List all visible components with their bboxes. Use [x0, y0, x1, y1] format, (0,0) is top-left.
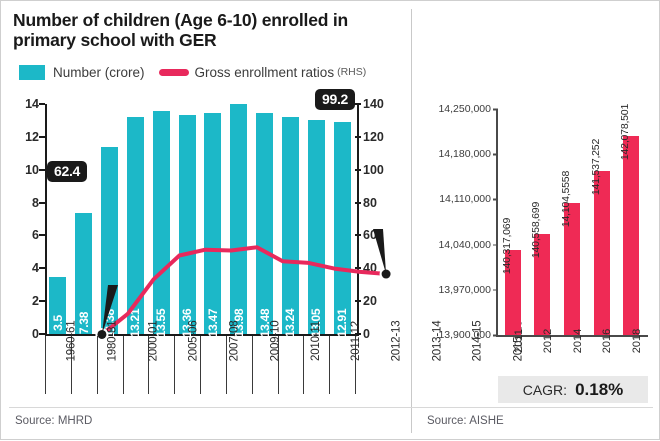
legend-bar-swatch: [19, 65, 45, 80]
legend-line-label: Gross enrollment ratios: [195, 65, 335, 80]
left-x-axis-labels: 1960-611980-812000-012005-062007-082009-…: [45, 338, 355, 400]
right-bar-value-label: 142,078,501: [619, 104, 631, 160]
right-bar-cell: 14,104,5558: [557, 109, 587, 335]
right-x-tick-label: 2016: [602, 329, 614, 353]
right-bar-series: 140,317,069140,558,69914,104,5558141,537…: [498, 109, 646, 335]
right-y-tick-label: 14,180,000: [438, 148, 491, 160]
left-x-label-cell: 2012-13: [370, 338, 411, 400]
left-chart-legend: Number (crore) Gross enrollment ratios (…: [19, 63, 366, 81]
left-y-tick-label: 8: [32, 196, 39, 210]
left-y2-tick-label: 140: [363, 97, 384, 111]
ger-point-last[interactable]: [382, 270, 391, 279]
right-bar-value-label: 140,317,069: [501, 218, 513, 274]
right-y-tick-label: 14,040,000: [438, 239, 491, 251]
right-y-tick-label: 13,970,000: [438, 284, 491, 296]
left-y-tick-label: 0: [32, 327, 39, 341]
callout-last-leader: [373, 229, 386, 274]
right-x-label-cell: 2011: [498, 339, 528, 353]
left-y2-tick-label: 100: [363, 163, 384, 177]
right-source-note: Source: AISHE: [427, 415, 504, 427]
right-bar[interactable]: 142,078,501: [623, 136, 639, 335]
left-y-tick-label: 2: [32, 294, 39, 308]
left-x-label-cell: 2010-11: [290, 338, 330, 400]
left-x-label-cell: 2000-01: [127, 338, 168, 400]
right-bar[interactable]: 141,537,252: [594, 171, 610, 335]
left-x-label-cell: 2007-08: [208, 338, 249, 400]
left-chart-panel: Number of children (Age 6-10) enrolled i…: [1, 1, 411, 441]
left-y2-tick-mark: [355, 202, 361, 204]
legend-bar-label: Number (crore): [53, 65, 145, 80]
right-bar-value-label: 141,537,252: [590, 139, 602, 195]
left-x-label-cell: 2009-10: [249, 338, 290, 400]
right-bar[interactable]: 140,317,069: [505, 250, 521, 335]
callout-first-value: 62.4: [47, 161, 87, 182]
left-y-tick-label: 6: [32, 228, 39, 242]
cagr-value: 0.18%: [575, 380, 623, 400]
right-x-tick-label: 2012: [542, 329, 554, 353]
left-y2-tick-mark: [355, 103, 361, 105]
right-bar-cell: 140,558,699: [528, 109, 558, 335]
right-x-tick-label: 2014: [572, 329, 584, 353]
left-y-tick-label: 12: [25, 130, 39, 144]
right-x-label-cell: 2014: [557, 339, 587, 353]
left-plot-area: 02468101214 020406080100120140 3.57.3811…: [45, 104, 355, 334]
left-y2-tick-mark: [355, 136, 361, 138]
left-y2-tick-label: 120: [363, 130, 384, 144]
right-x-label-cell: 2012: [528, 339, 558, 353]
left-bar-value-label: 3.5: [51, 315, 65, 331]
callout-last-value: 99.2: [315, 89, 355, 110]
left-bar-cell: 3.5: [45, 104, 71, 334]
left-source-note: Source: MHRD: [15, 415, 92, 427]
right-x-axis-labels: 20112012201420162018: [498, 339, 646, 353]
right-bar-cell: 142,078,501: [616, 109, 646, 335]
cagr-label: CAGR:: [523, 382, 567, 398]
left-x-label-cell: 1960-61: [45, 338, 86, 400]
left-y-tick-label: 4: [32, 261, 39, 275]
right-bar-value-label: 14,104,5558: [560, 171, 572, 227]
infographic-root: Number of children (Age 6-10) enrolled i…: [0, 0, 660, 440]
right-plot-area: 13,900,00013,970,00014,040,00014,110,000…: [498, 109, 646, 335]
left-y-tick-label: 10: [25, 163, 39, 177]
cagr-box: CAGR: 0.18%: [498, 376, 648, 403]
right-bar-value-label: 140,558,699: [530, 202, 542, 258]
right-x-tick-label: 2011: [513, 329, 525, 353]
left-x-label-cell: 2005-06: [167, 338, 208, 400]
right-bar[interactable]: 14,104,5558: [564, 203, 580, 335]
left-y-tick-label: 14: [25, 97, 39, 111]
legend-line-swatch: [159, 69, 189, 76]
left-x-label-cell: 2011-12: [330, 338, 370, 400]
footer-divider: [9, 407, 653, 408]
right-x-label-cell: 2018: [616, 339, 646, 353]
left-y2-tick-mark: [355, 169, 361, 171]
right-bar-cell: 140,317,069: [498, 109, 528, 335]
right-bar-cell: 141,537,252: [587, 109, 617, 335]
left-bar[interactable]: 3.5: [49, 277, 66, 335]
left-x-label-cell: 1980-81: [86, 338, 127, 400]
legend-line-suffix: (RHS): [337, 66, 366, 78]
right-bar[interactable]: 140,558,699: [534, 234, 550, 335]
right-y-tick-label: 13,900,000: [438, 329, 491, 341]
right-y-tick-label: 14,250,000: [438, 103, 491, 115]
left-chart-title: Number of children (Age 6-10) enrolled i…: [13, 10, 403, 50]
right-x-tick-label: 2018: [631, 329, 643, 353]
right-x-label-cell: 2016: [587, 339, 617, 353]
right-y-tick-label: 14,110,000: [439, 193, 491, 205]
